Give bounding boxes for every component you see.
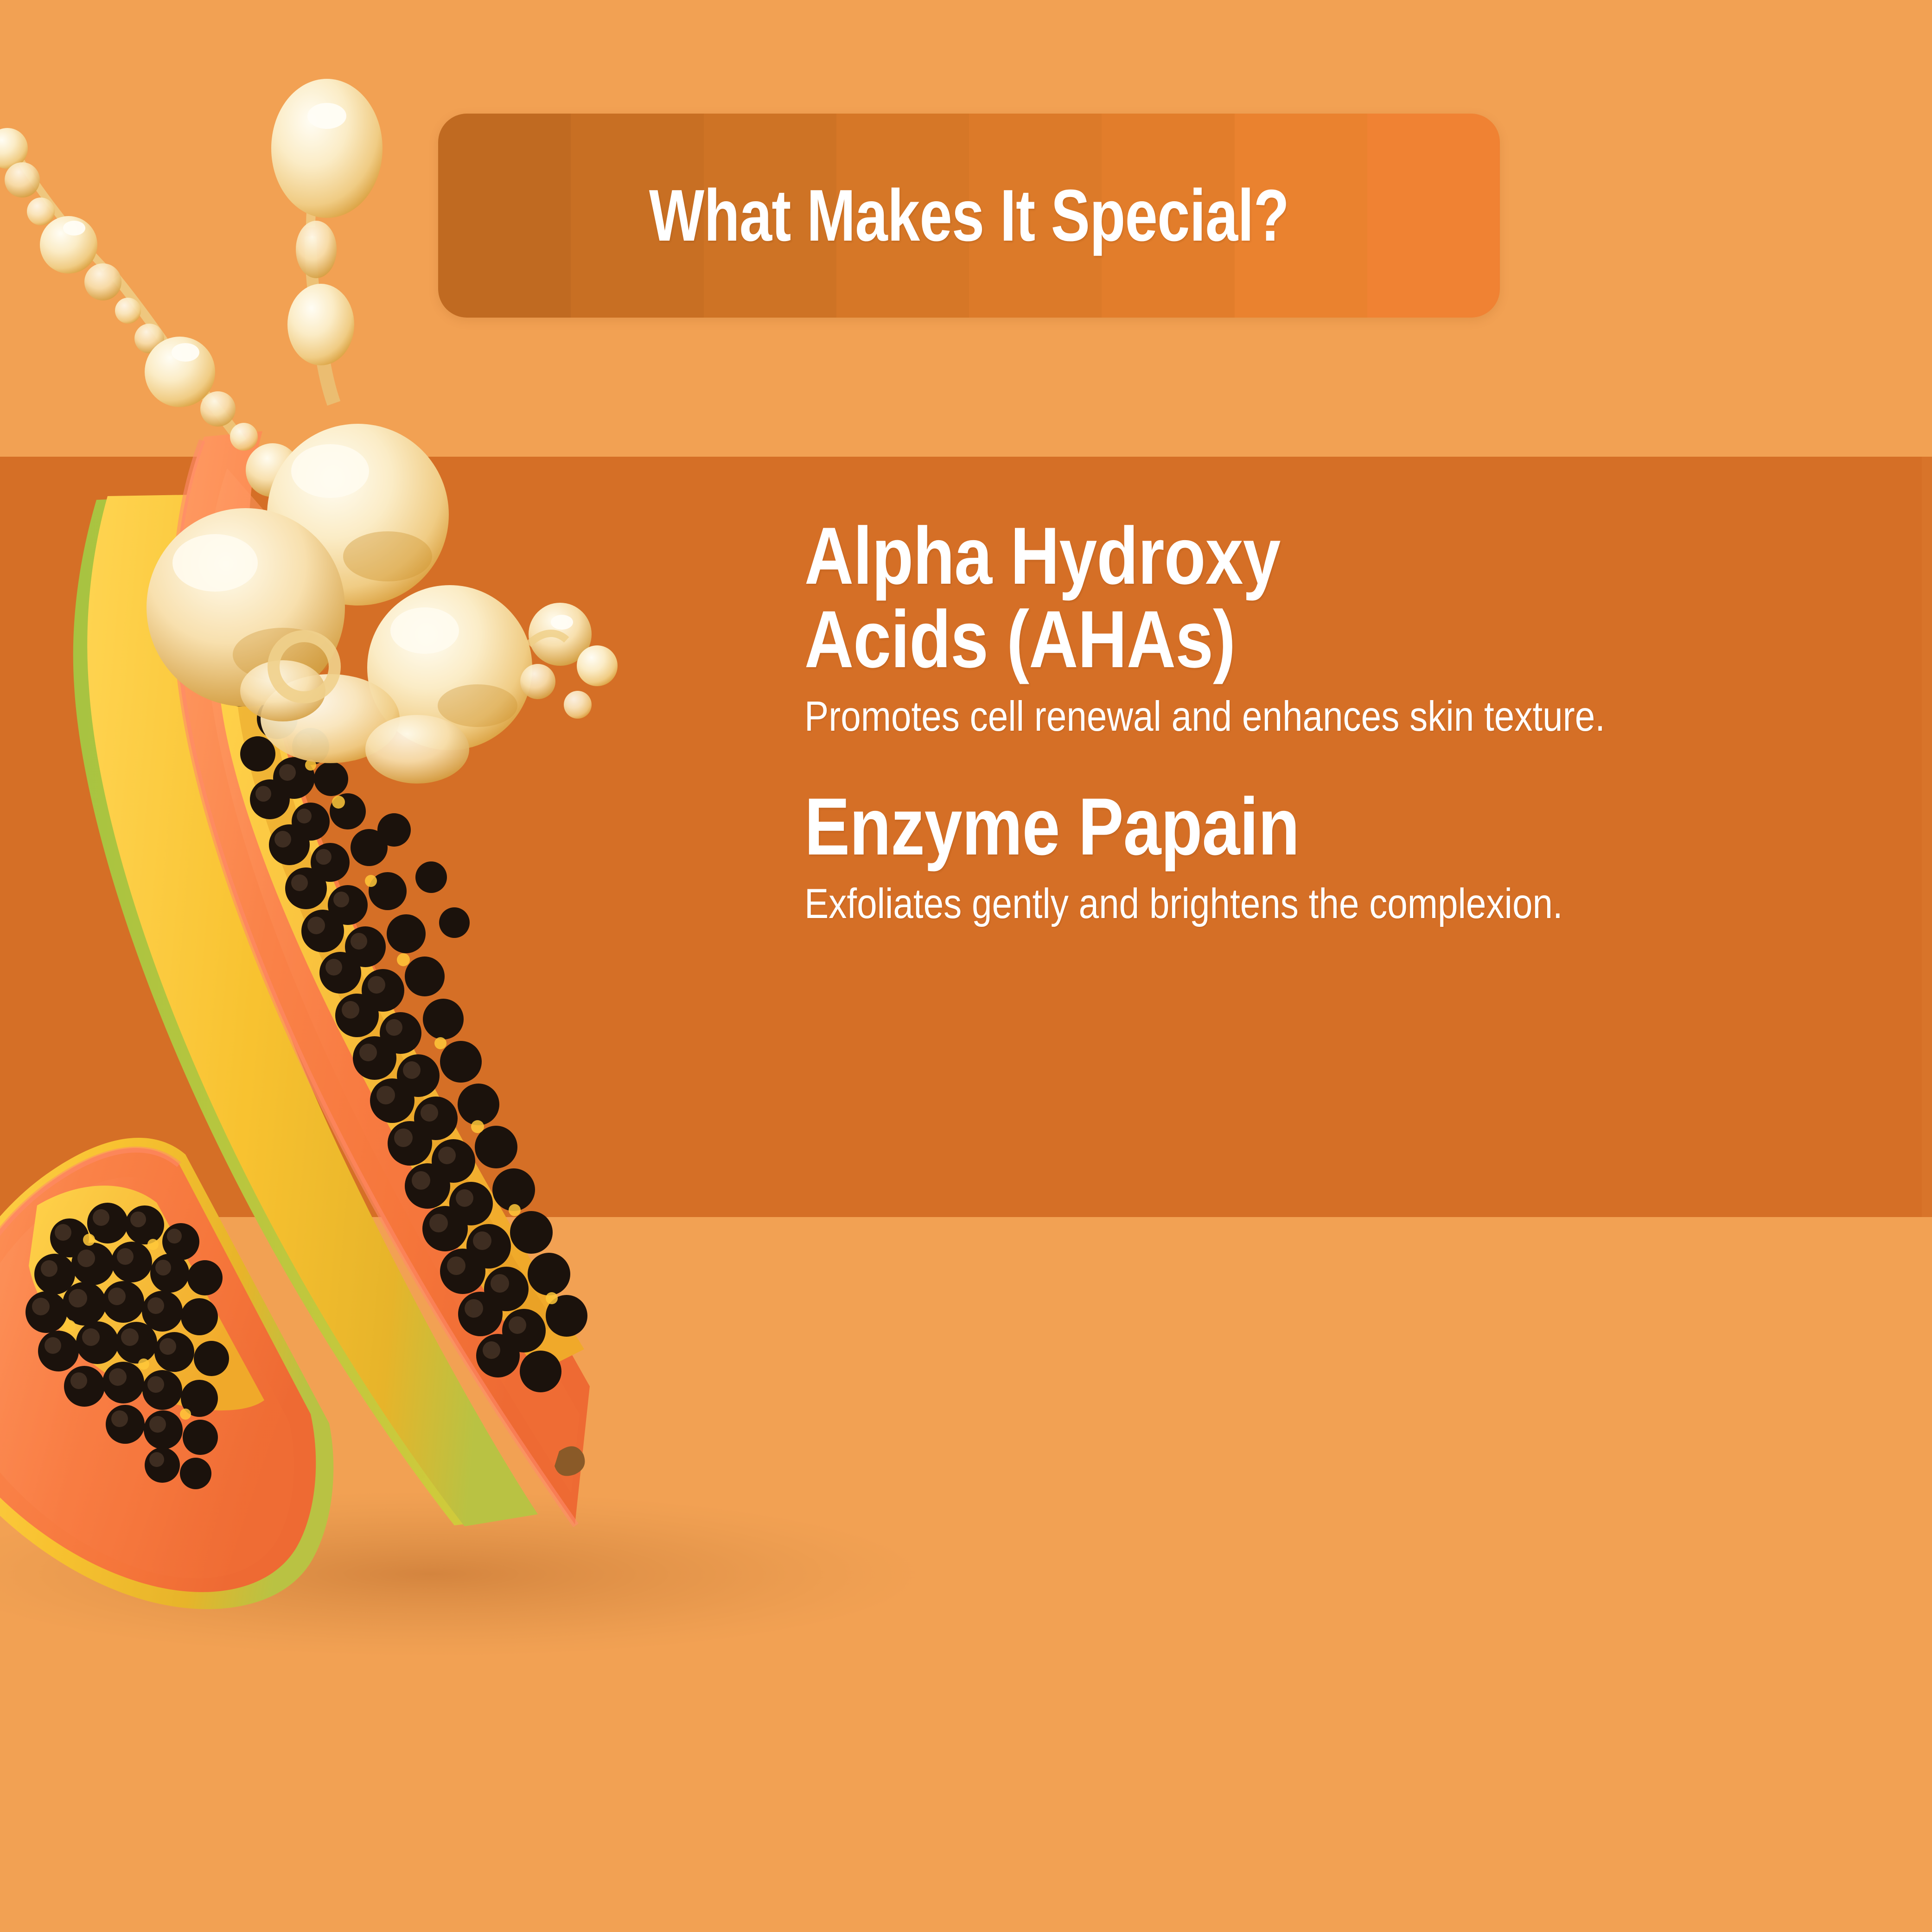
banner-title-text: What Makes It Special? (544, 179, 1394, 252)
feature-title: Enzyme Papain (804, 785, 1712, 869)
papaya-seeds-small (26, 1203, 229, 1489)
feature-description: Exfoliates gently and brightens the comp… (804, 880, 1734, 928)
title-banner: What Makes It Special? (438, 114, 1500, 318)
feature-item: Alpha Hydroxy Acids (AHAs) Promotes cell… (804, 515, 1885, 740)
feature-description: Promotes cell renewal and enhances skin … (804, 693, 1734, 740)
feature-title: Alpha Hydroxy Acids (AHAs) (804, 515, 1712, 682)
feature-list: Alpha Hydroxy Acids (AHAs) Promotes cell… (804, 515, 1885, 928)
feature-item: Enzyme Papain Exfoliates gently and brig… (804, 785, 1885, 927)
poster-canvas: What Makes It Special? (0, 0, 1932, 1932)
papaya-ground-shadow (0, 1491, 927, 1658)
content-band-right-edge (1922, 457, 1932, 1217)
